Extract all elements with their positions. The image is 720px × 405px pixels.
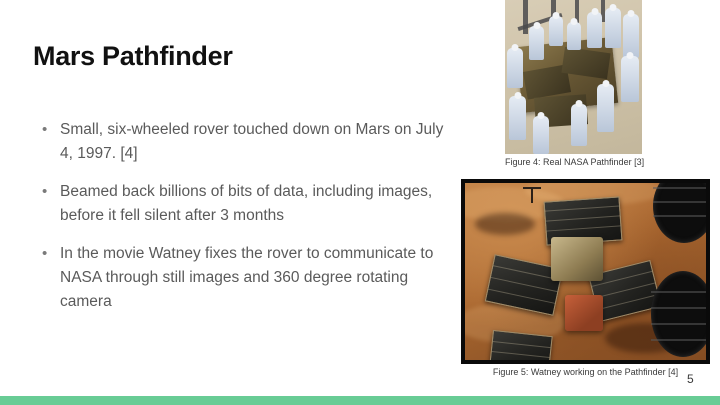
- list-item-text: Beamed back billions of bits of data, in…: [60, 180, 458, 228]
- bullet-marker-icon: •: [38, 118, 60, 142]
- figure-4: Figure 4: Real NASA Pathfinder [3]: [505, 0, 642, 168]
- list-item: • Beamed back billions of bits of data, …: [38, 180, 458, 228]
- list-item-text: Small, six-wheeled rover touched down on…: [60, 118, 458, 166]
- slide-number: 5: [687, 372, 694, 386]
- mars-surface-photo-image: [461, 179, 710, 364]
- list-item-text: In the movie Watney fixes the rover to c…: [60, 242, 458, 314]
- figure-5-caption: Figure 5: Watney working on the Pathfind…: [461, 366, 710, 378]
- accent-bar: [0, 396, 720, 405]
- bullet-marker-icon: •: [38, 180, 60, 204]
- list-item: • Small, six-wheeled rover touched down …: [38, 118, 458, 166]
- bullet-list: • Small, six-wheeled rover touched down …: [38, 118, 458, 328]
- figure-4-caption: Figure 4: Real NASA Pathfinder [3]: [505, 156, 642, 168]
- page-title: Mars Pathfinder: [33, 41, 233, 72]
- figure-5: Figure 5: Watney working on the Pathfind…: [461, 179, 710, 378]
- list-item: • In the movie Watney fixes the rover to…: [38, 242, 458, 314]
- bullet-marker-icon: •: [38, 242, 60, 266]
- slide: Mars Pathfinder • Small, six-wheeled rov…: [0, 0, 720, 405]
- cleanroom-photo-image: [505, 0, 642, 154]
